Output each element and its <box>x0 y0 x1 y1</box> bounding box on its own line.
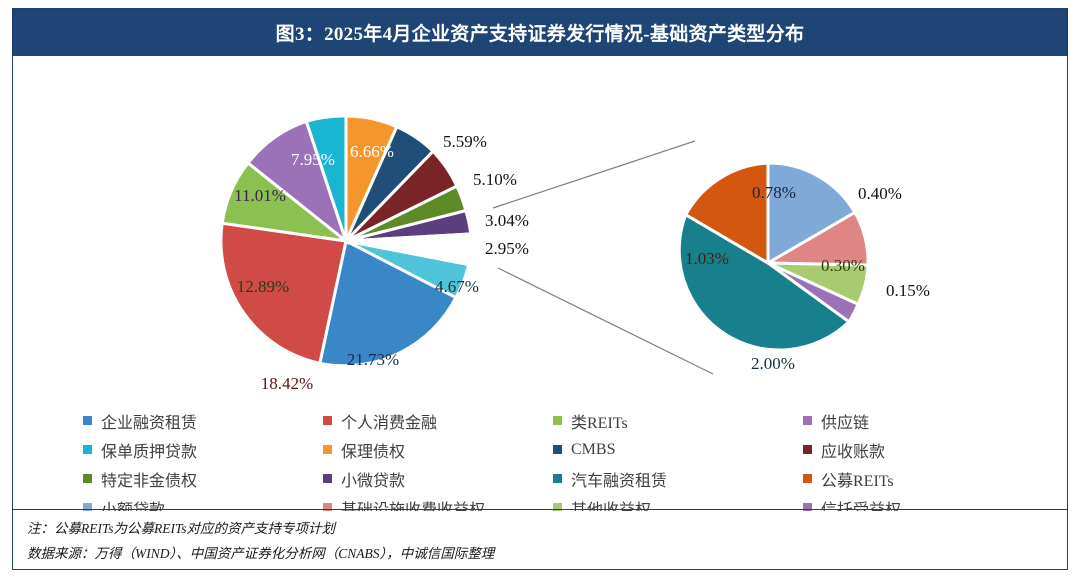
pie-label-4-67: 4.67% <box>435 277 479 296</box>
legend-label-8: 特定非金债权 <box>101 467 197 491</box>
legend-swatch-icon-5 <box>323 445 332 454</box>
legend-swatch-icon-8 <box>83 474 92 483</box>
figure-panel: 图3：2025年4月企业资产支持证券发行情况-基础资产类型分布 <box>12 8 1068 570</box>
pie-label-18-42: 18.42% <box>261 374 313 393</box>
pie-label-1-03: 1.03% <box>685 249 729 268</box>
legend-label-4: 保单质押贷款 <box>101 438 197 462</box>
pie-label-0-30: 0.30% <box>821 256 865 275</box>
pie-label-21-73: 21.73% <box>347 350 399 369</box>
pie-label-5-59: 5.59% <box>443 132 487 151</box>
legend-item-9[interactable]: 小微贷款 <box>323 467 553 491</box>
legend-item-6[interactable]: CMBS <box>553 441 803 459</box>
figure-footnotes: 注：公募REITs为公募REITs对应的资产支持专项计划 数据来源：万得（WIN… <box>13 509 1067 569</box>
footnote-source: 数据来源：万得（WIND）、中国资产证券化分析网（CNABS），中诚信国际整理 <box>27 542 1067 567</box>
pie-label-5-10: 5.10% <box>473 170 517 189</box>
legend-label-7: 应收账款 <box>821 438 885 462</box>
legend-label-1: 个人消费金融 <box>341 409 437 433</box>
legend-item-7[interactable]: 应收账款 <box>803 438 1013 462</box>
pie-label-0-15: 0.15% <box>886 281 930 300</box>
legend-swatch-icon-10 <box>553 474 562 483</box>
legend-label-2: 类REITs <box>571 409 628 433</box>
chart-plot-area: 21.73% 18.42% 12.89% 11.01% 7.95% 6.66% … <box>13 56 1067 511</box>
legend-item-5[interactable]: 保理债权 <box>323 438 553 462</box>
legend-item-1[interactable]: 个人消费金融 <box>323 409 553 433</box>
pie-label-0-40: 0.40% <box>858 184 902 203</box>
pie-label-0-78: 0.78% <box>752 183 796 202</box>
legend-item-2[interactable]: 类REITs <box>553 409 803 433</box>
pie-label-6-66: 6.66% <box>350 142 394 161</box>
legend-swatch-icon-7 <box>803 445 812 454</box>
legend-swatch-icon-11 <box>803 474 812 483</box>
legend-item-11[interactable]: 公募REITs <box>803 467 1013 491</box>
legend-item-0[interactable]: 企业融资租赁 <box>83 409 323 433</box>
pie-label-12-89: 12.89% <box>237 277 289 296</box>
footnote-note: 注：公募REITs为公募REITs对应的资产支持专项计划 <box>27 517 1067 542</box>
pie-label-3-04: 3.04% <box>485 211 529 230</box>
chart-legend: 企业融资租赁 个人消费金融 类REITs 供应链 保单质押贷款 保理债权 CMB… <box>83 406 1013 511</box>
legend-item-8[interactable]: 特定非金债权 <box>83 467 323 491</box>
legend-swatch-icon-6 <box>553 445 562 454</box>
legend-swatch-icon-0 <box>83 416 92 425</box>
legend-swatch-icon-1 <box>323 416 332 425</box>
legend-swatch-icon-4 <box>83 445 92 454</box>
pie-label-2-00: 2.00% <box>751 354 795 373</box>
legend-swatch-icon-9 <box>323 474 332 483</box>
pie-label-11-01: 11.01% <box>234 186 286 205</box>
legend-label-3: 供应链 <box>821 409 869 433</box>
legend-item-10[interactable]: 汽车融资租赁 <box>553 467 803 491</box>
pie-label-2-95: 2.95% <box>485 239 529 258</box>
legend-swatch-icon-3 <box>803 416 812 425</box>
legend-label-11: 公募REITs <box>821 467 894 491</box>
legend-label-0: 企业融资租赁 <box>101 409 197 433</box>
legend-label-9: 小微贷款 <box>341 467 405 491</box>
pie-label-7-95: 7.95% <box>291 150 335 169</box>
legend-label-6: CMBS <box>571 441 615 459</box>
main-pie <box>221 116 471 366</box>
legend-label-10: 汽车融资租赁 <box>571 467 667 491</box>
legend-swatch-icon-2 <box>553 416 562 425</box>
figure-title-bar: 图3：2025年4月企业资产支持证券发行情况-基础资产类型分布 <box>13 9 1067 56</box>
legend-item-3[interactable]: 供应链 <box>803 409 1013 433</box>
page-title: 图3：2025年4月企业资产支持证券发行情况-基础资产类型分布 <box>276 19 805 46</box>
legend-item-4[interactable]: 保单质押贷款 <box>83 438 323 462</box>
legend-label-5: 保理债权 <box>341 438 405 462</box>
